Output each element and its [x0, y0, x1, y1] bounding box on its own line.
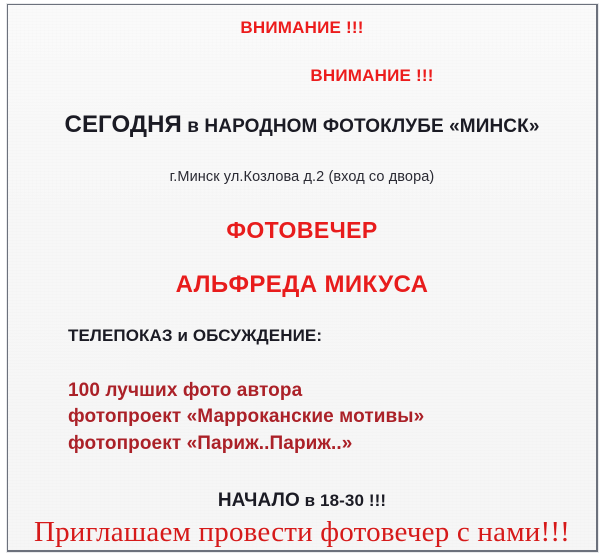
- start-time-emphasis: НАЧАЛО: [218, 490, 300, 511]
- poster-content: ВНИМАНИЕ !!! ВНИМАНИЕ !!! СЕГОДНЯ в НАРО…: [8, 5, 596, 550]
- start-time-rest: в 18-30 !!!: [300, 491, 386, 510]
- poster-frame: ВНИМАНИЕ !!! ВНИМАНИЕ !!! СЕГОДНЯ в НАРО…: [7, 4, 598, 552]
- attention-heading-2: ВНИМАНИЕ !!!: [8, 67, 598, 84]
- venue-heading-emphasis: СЕГОДНЯ: [65, 111, 182, 138]
- address-line: г.Минск ул.Козлова д.2 (вход со двора): [8, 170, 596, 185]
- programme-item: 100 лучших фото автора: [68, 381, 302, 400]
- event-type-heading: ФОТОВЕЧЕР: [8, 219, 596, 242]
- author-heading: АЛЬФРЕДА МИКУСА: [8, 273, 596, 297]
- attention-heading-1: ВНИМАНИЕ !!!: [8, 19, 598, 36]
- start-time-line: НАЧАЛО в 18-30 !!!: [8, 491, 596, 510]
- poster-root: ВНИМАНИЕ !!! ВНИМАНИЕ !!! СЕГОДНЯ в НАРО…: [0, 0, 604, 559]
- programme-item: фотопроект «Париж..Париж..»: [68, 434, 352, 453]
- programme-item: фотопроект «Марроканские мотивы»: [68, 407, 424, 426]
- invitation-line: Приглашаем провести фотовечер с нами!!!: [8, 518, 596, 547]
- venue-heading-rest: в НАРОДНОМ ФОТОКЛУБЕ «МИНСК»: [182, 116, 540, 137]
- programme-section-header: ТЕЛЕПОКАЗ и ОБСУЖДЕНИЕ:: [68, 327, 322, 344]
- venue-heading: СЕГОДНЯ в НАРОДНОМ ФОТОКЛУБЕ «МИНСК»: [8, 113, 596, 137]
